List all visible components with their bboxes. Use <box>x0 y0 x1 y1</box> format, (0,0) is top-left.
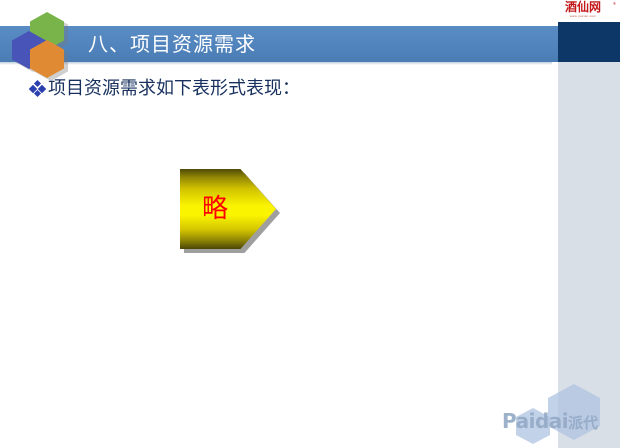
hexagon-logo-cluster <box>8 10 78 70</box>
bullet-text: 项目资源需求如下表形式表现： <box>48 78 300 100</box>
right-navy-block <box>558 22 620 62</box>
title-bar-shadow <box>0 62 552 65</box>
site-logo-subtitle: www.jiuxian.com <box>552 14 614 19</box>
arrow-label: 略 <box>202 195 228 223</box>
slide-canvas: 八、项目资源需求 酒仙网 www.jiuxian.com ® 项目资源需求如下表… <box>0 0 620 448</box>
watermark-text-en: Paidai <box>502 409 568 433</box>
trademark-icon: ® <box>613 1 616 6</box>
bullet-row: 项目资源需求如下表形式表现： <box>30 78 300 100</box>
site-logo-mark: 酒仙网 <box>552 1 614 14</box>
site-logo: 酒仙网 www.jiuxian.com ® <box>552 1 614 21</box>
diamond-bullet-icon <box>30 81 46 97</box>
slide-title: 八、项目资源需求 <box>88 28 528 60</box>
watermark: Paidai派代 <box>498 382 620 444</box>
watermark-text-cn: 派代 <box>568 414 598 432</box>
arrow-shape-group: 略 <box>180 169 276 249</box>
watermark-text: Paidai派代 <box>502 410 598 434</box>
arrow-shape: 略 <box>180 169 276 249</box>
